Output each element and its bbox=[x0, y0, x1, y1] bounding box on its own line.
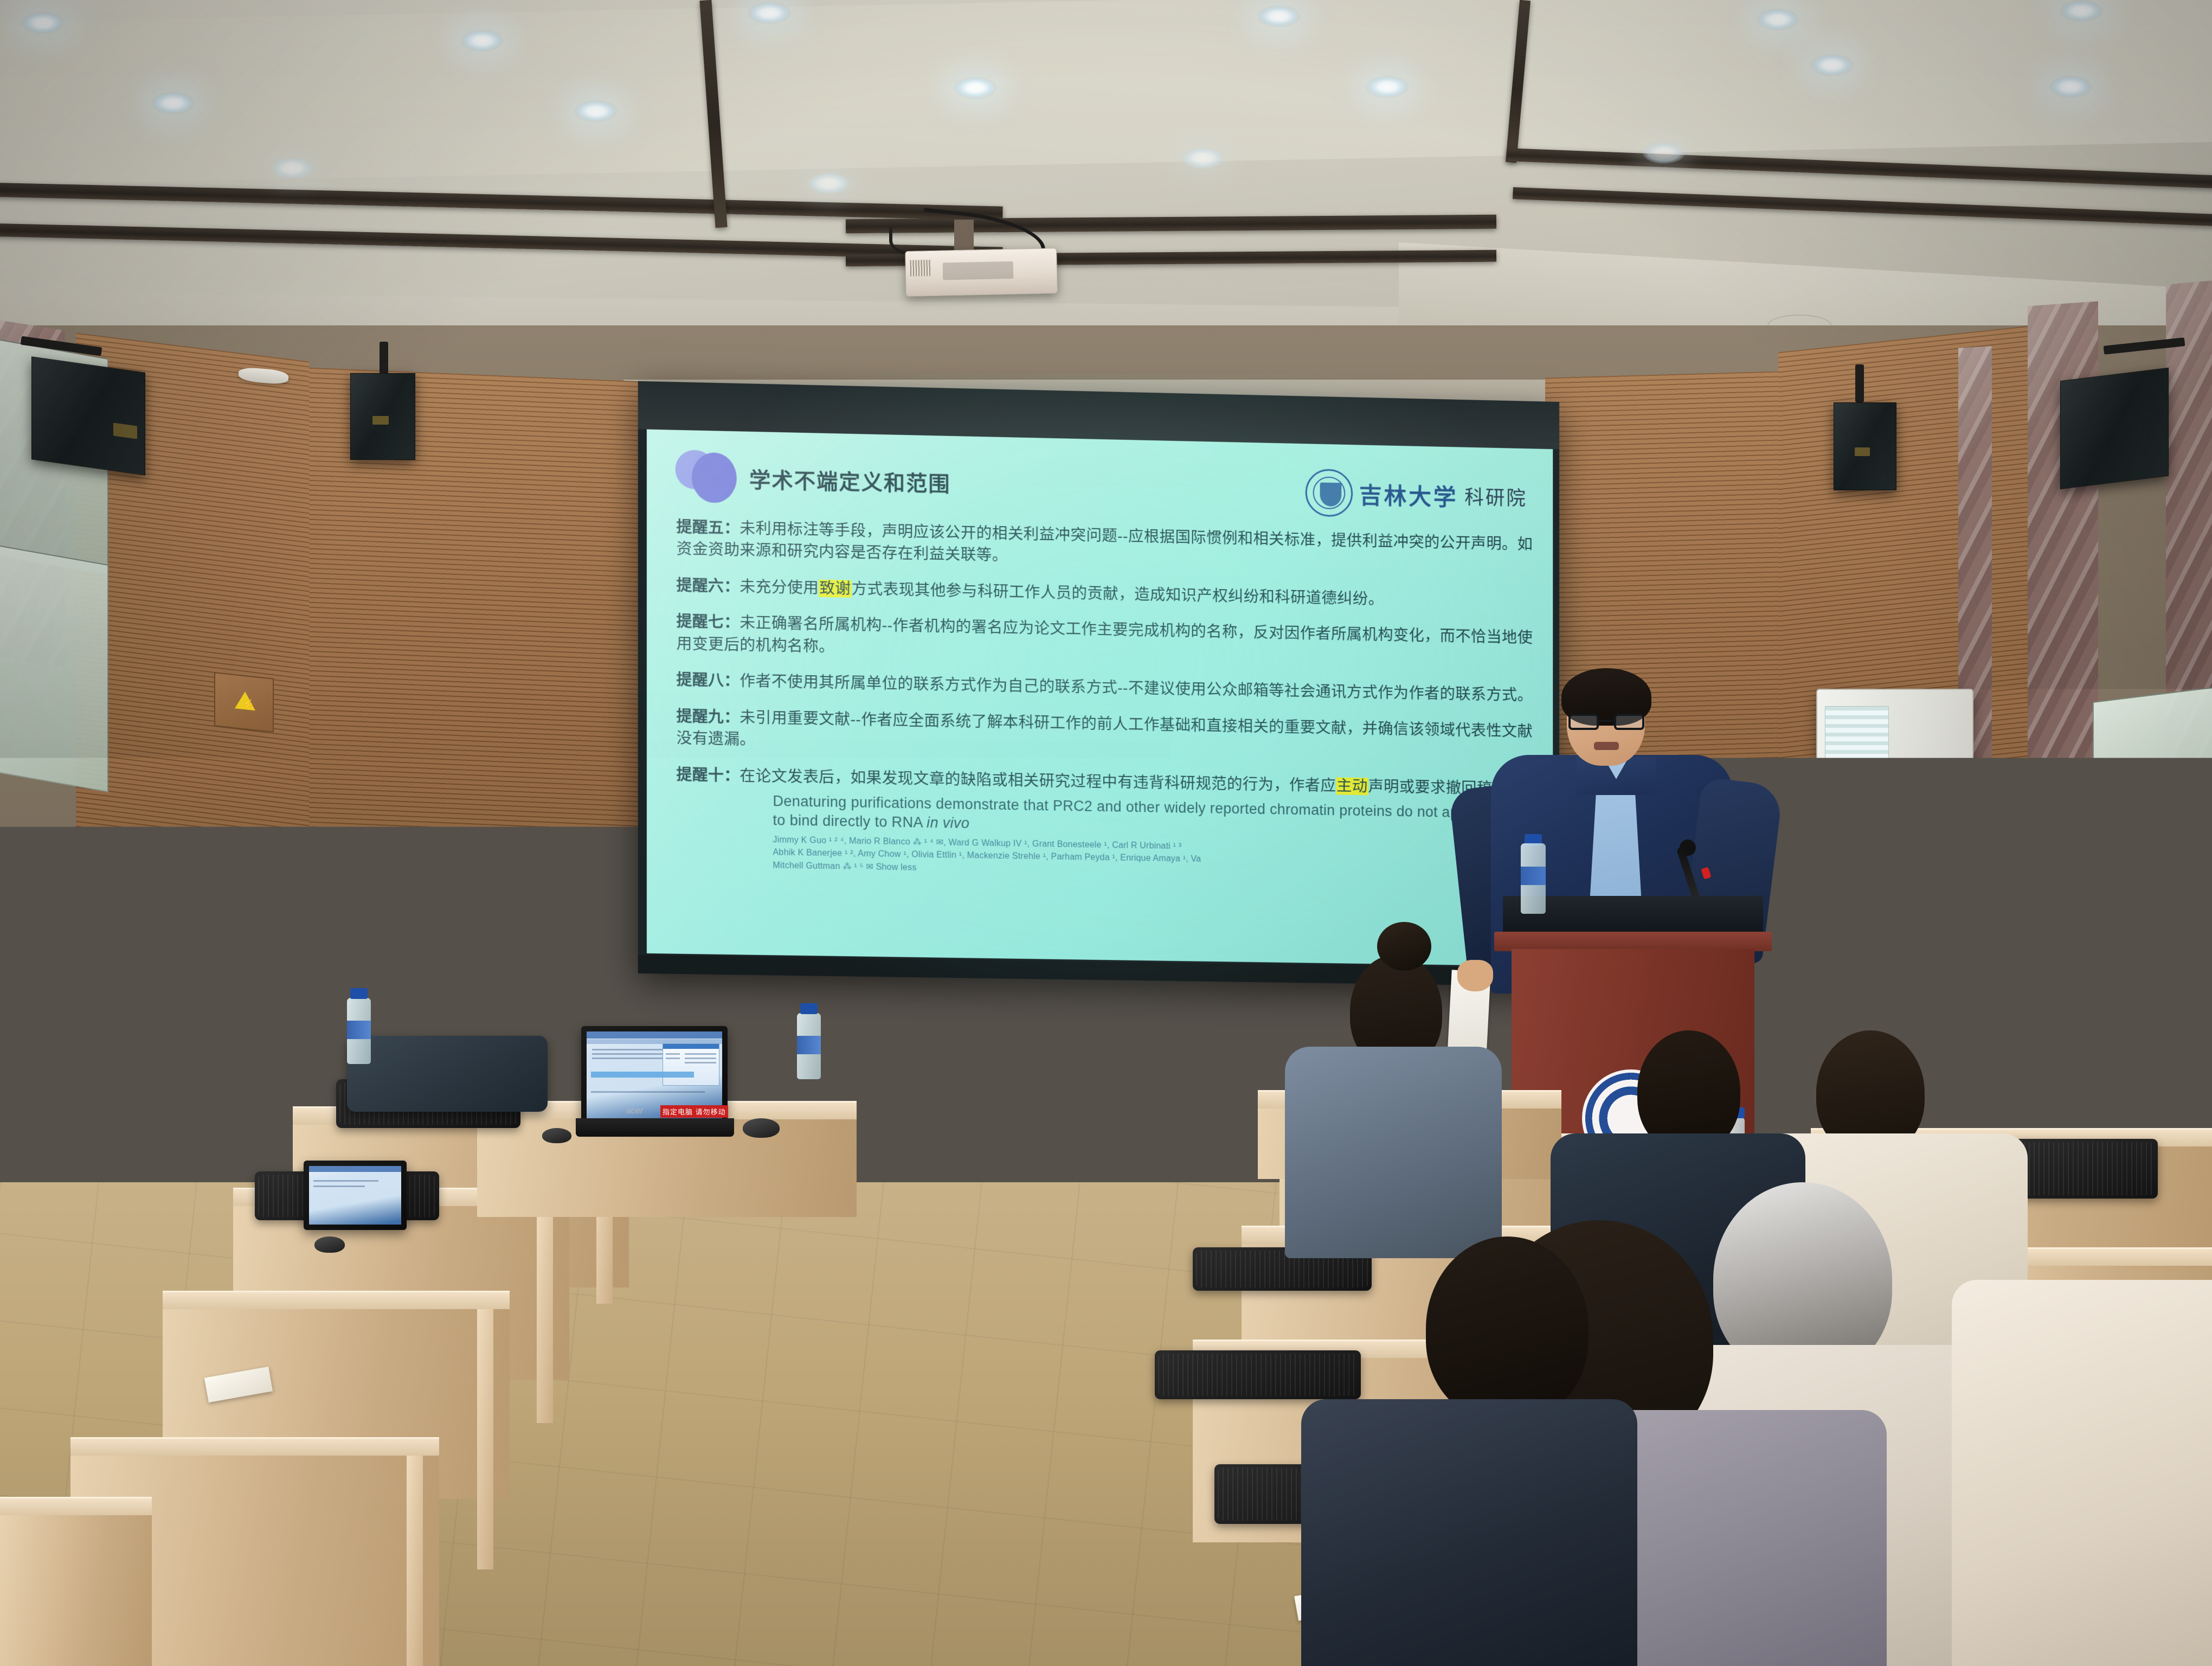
paragraph-lead: 提醒七： bbox=[677, 613, 740, 631]
dialog-text-line bbox=[685, 1053, 716, 1055]
ceiling-panel bbox=[0, 0, 2212, 187]
desk-leg bbox=[537, 1206, 553, 1423]
speaker-badge bbox=[372, 416, 389, 425]
rack-display-small bbox=[1863, 1018, 1876, 1029]
laptop-text-line bbox=[591, 1091, 705, 1093]
chair[interactable] bbox=[1155, 1350, 1361, 1399]
level-led bbox=[1932, 1021, 1938, 1027]
high-voltage-icon: ⚡ bbox=[242, 699, 254, 710]
glass-wall-panel bbox=[0, 542, 108, 792]
laptop-text-line bbox=[222, 1181, 293, 1183]
level-led bbox=[1912, 1021, 1918, 1027]
slide-header: 学术不端定义和范围 吉林大学 科研院 bbox=[676, 443, 1532, 526]
research-office-name: 科研院 bbox=[1464, 482, 1527, 511]
seal-emblem-icon bbox=[1320, 483, 1342, 507]
ceiling-projector bbox=[905, 248, 1058, 297]
desk-leg bbox=[407, 1456, 423, 1666]
projection-screen: 学术不端定义和范围 吉林大学 科研院 提醒五：未利用标注等手段，声明应该公开的相… bbox=[638, 381, 1559, 986]
ac-grille bbox=[1825, 706, 1889, 885]
dialog-titlebar bbox=[663, 1044, 719, 1049]
ceiling-downlight bbox=[1182, 148, 1224, 169]
ceiling-downlight bbox=[2049, 76, 2092, 98]
level-led bbox=[1971, 1021, 1977, 1027]
ceiling-downlight bbox=[1366, 76, 1409, 98]
audience-torso bbox=[1952, 1280, 2212, 1666]
ac-label bbox=[1828, 957, 1875, 971]
rack-blue-panel bbox=[1883, 1019, 1892, 1029]
paragraph-text-after: 方式表现其他参与科研工作人员的贡献，造成知识产权纠纷和科研道德纠纷。 bbox=[851, 580, 1384, 608]
paragraph-lead: 提醒五： bbox=[677, 518, 740, 537]
glasses-lens-right bbox=[1614, 714, 1644, 730]
laptop-screen[interactable] bbox=[218, 1166, 316, 1228]
ceiling-downlight bbox=[808, 172, 850, 194]
ceiling-downlight bbox=[1643, 142, 1685, 164]
paragraph-text: 未正确署名所属机构--作者机构的署名应为论文工作主要完成机构的名称，反对因作者所… bbox=[677, 614, 1533, 656]
ceiling-speaker-left bbox=[350, 373, 415, 460]
ceiling-downlight bbox=[22, 12, 64, 34]
chair-backrest-mesh bbox=[2009, 1142, 2155, 1195]
laptop-titlebar bbox=[587, 1031, 722, 1039]
level-led bbox=[1941, 1021, 1947, 1027]
computer-mouse[interactable] bbox=[743, 1118, 780, 1138]
ceiling-downlight bbox=[1258, 5, 1300, 27]
ceiling-downlight bbox=[748, 2, 790, 24]
university-name: 吉林大学 bbox=[1359, 477, 1458, 512]
rack-top-device bbox=[1876, 960, 1973, 992]
audience-torso bbox=[125, 922, 385, 1106]
ceiling-downlight bbox=[1811, 54, 1853, 76]
podium-bottle-label bbox=[1521, 867, 1546, 885]
dialog-text-line bbox=[685, 1062, 716, 1063]
glasses-icon bbox=[1568, 714, 1644, 730]
laptop-text-line bbox=[222, 1187, 276, 1188]
bottle-cap bbox=[800, 1003, 818, 1014]
level-meter-leds bbox=[1912, 1021, 1996, 1027]
paragraph-highlight: 致谢 bbox=[819, 580, 851, 598]
slide-body: 提醒五：未利用标注等手段，声明应该公开的相关利益冲突问题--应根据国际惯例和相关… bbox=[677, 516, 1537, 815]
university-logo: 吉林大学 科研院 bbox=[1306, 469, 1527, 521]
level-led bbox=[1922, 1021, 1928, 1027]
laptop-base bbox=[576, 1118, 734, 1137]
electrical-box: ⚡ bbox=[214, 672, 274, 733]
dialog-text-line bbox=[685, 1058, 716, 1059]
paragraph-highlight: 主动 bbox=[1336, 777, 1368, 795]
rack-knob[interactable] bbox=[1958, 1075, 1967, 1084]
power-led-blue bbox=[1899, 1018, 1905, 1030]
rack-fader-bank[interactable] bbox=[1990, 1071, 2033, 1087]
chair-backrest-mesh bbox=[1158, 1354, 1358, 1396]
marble-column bbox=[2166, 279, 2212, 1044]
dialog-text-line bbox=[666, 1053, 680, 1055]
desk-leg bbox=[477, 1309, 493, 1569]
presentation-slide: 学术不端定义和范围 吉林大学 科研院 提醒五：未利用标注等手段，声明应该公开的相… bbox=[647, 430, 1553, 966]
projector-ports bbox=[943, 261, 1014, 280]
rack-knob[interactable] bbox=[1974, 1075, 1983, 1084]
paragraph-lead: 提醒十： bbox=[677, 766, 740, 784]
audience-torso bbox=[1285, 1047, 1502, 1258]
rack-fader[interactable] bbox=[2012, 1071, 2017, 1087]
rack-fader[interactable] bbox=[2005, 1071, 2010, 1087]
decorative-circles-icon bbox=[676, 447, 733, 506]
presenter-hand bbox=[1457, 960, 1493, 991]
slide-paragraph-9: 提醒九：未引用重要文献--作者应全面系统了解本科研工作的前人工作基础和直接相关的… bbox=[677, 706, 1537, 765]
ceiling-downlight bbox=[954, 77, 996, 99]
slide-paragraph-7: 提醒七：未正确署名所属机构--作者机构的署名应为论文工作主要完成机构的名称，反对… bbox=[677, 611, 1537, 671]
computer-mouse[interactable] bbox=[542, 1128, 571, 1143]
water-bottle[interactable] bbox=[797, 1013, 821, 1079]
glasses-lens-left bbox=[1568, 714, 1599, 730]
level-led bbox=[1951, 1021, 1957, 1027]
ceiling-downlight bbox=[2060, 0, 2102, 22]
wall-speaker-left bbox=[31, 356, 145, 476]
circle-dark-icon bbox=[692, 452, 737, 503]
audience-torso bbox=[0, 1475, 260, 1666]
speaker-mount-arm bbox=[380, 342, 388, 375]
laptop-audience[interactable] bbox=[213, 1161, 321, 1234]
ceiling-downlight bbox=[575, 100, 617, 122]
laptop-dialog-window[interactable] bbox=[663, 1043, 719, 1086]
rack-fader[interactable] bbox=[2020, 1071, 2025, 1087]
paragraph-lead: 提醒八： bbox=[677, 671, 740, 690]
audience-hair bbox=[1426, 1236, 1589, 1421]
rack-top-unit[interactable]: 219 bbox=[1863, 1015, 2035, 1033]
paragraph-text: 未利用标注等手段，声明应该公开的相关利益冲突问题--应根据国际惯例和相关标准，提… bbox=[677, 520, 1533, 565]
speaker-badge bbox=[113, 422, 137, 439]
lecture-hall-photo: ⚡ 学术不端定义和范围 bbox=[0, 0, 2212, 1666]
level-led bbox=[1961, 1021, 1967, 1027]
paragraph-text: 未引用重要文献--作者应全面系统了解本科研工作的前人工作基础和直接相关的重要文献… bbox=[677, 709, 1533, 748]
audience-hair-bun bbox=[1377, 922, 1431, 971]
projector-vent bbox=[910, 260, 931, 277]
laptop-lid bbox=[213, 1161, 321, 1234]
level-led bbox=[1980, 1021, 1986, 1027]
ceiling-downlight bbox=[152, 92, 194, 114]
paragraph-text: 作者不使用其所属单位的联系方式作为自己的联系方式--不建议使用公众邮箱等社会通讯… bbox=[740, 672, 1533, 704]
bottle-label bbox=[797, 1036, 821, 1054]
level-led bbox=[1990, 1021, 1996, 1027]
university-seal-icon bbox=[1306, 469, 1353, 517]
dialog-text-line bbox=[666, 1058, 680, 1059]
speaker-badge bbox=[1855, 447, 1870, 456]
rack-panel-blank bbox=[1938, 1042, 2035, 1054]
audience-torso bbox=[1301, 1399, 1637, 1666]
rack-fader[interactable] bbox=[1990, 1071, 1995, 1087]
glasses-bridge bbox=[1599, 720, 1614, 722]
rack-knob-large[interactable] bbox=[1924, 1073, 1936, 1085]
ceiling-downlight bbox=[271, 157, 313, 179]
laptop-titlebar bbox=[218, 1166, 316, 1172]
paper-citation-block: Denaturing purifications demonstrate tha… bbox=[773, 792, 1488, 883]
laptop-selected-row bbox=[591, 1072, 694, 1078]
paragraph-lead: 提醒九： bbox=[677, 708, 740, 726]
laptop-asset-sticker: 指定电脑 请勿移动 bbox=[660, 1105, 728, 1118]
wall-speaker-right bbox=[2060, 368, 2169, 490]
ceiling-downlight bbox=[1757, 9, 1799, 30]
paragraph-lead: 提醒六： bbox=[677, 576, 740, 595]
slide-paragraph-6: 提醒六：未充分使用致谢方式表现其他参与科研工作人员的贡献，造成知识产权纠纷和科研… bbox=[677, 574, 1537, 613]
ceiling-speaker-right bbox=[1834, 402, 1896, 490]
laptop-text-line bbox=[592, 1053, 673, 1055]
slide-paragraph-8: 提醒八：作者不使用其所属单位的联系方式作为自己的联系方式--不建议使用公众邮箱等… bbox=[677, 669, 1537, 707]
presenter-mouth bbox=[1594, 742, 1619, 750]
podium-lip bbox=[1494, 932, 1772, 951]
rack-knob[interactable] bbox=[1943, 1075, 1952, 1084]
paragraph-text-before: 在论文发表后，如果发现文章的缺陷或相关研究过程中有违背科研规范的行为，作者应 bbox=[740, 767, 1336, 794]
air-conditioner-unit bbox=[1816, 689, 1973, 992]
speaker-mount-arm bbox=[1855, 364, 1864, 402]
paragraph-text-before: 未充分使用 bbox=[740, 578, 819, 597]
rack-fader[interactable] bbox=[2028, 1071, 2033, 1087]
slide-title: 学术不端定义和范围 bbox=[749, 463, 951, 498]
paper-title-italic: in vivo bbox=[927, 815, 969, 831]
slide-paragraph-5: 提醒五：未利用标注等手段，声明应该公开的相关利益冲突问题--应根据国际惯例和相关… bbox=[677, 516, 1537, 578]
rack-numeric-display: 219 bbox=[2004, 1015, 2035, 1033]
laptop-brand-label: acer bbox=[626, 1106, 643, 1116]
paper-authors: Jimmy K Guo ¹ ² ⁴, Mario R Blanco ⁂ ¹ ⁴ … bbox=[773, 834, 1488, 882]
ceiling-downlight bbox=[461, 30, 503, 52]
glass-wall-panel bbox=[2093, 687, 2212, 897]
chair[interactable] bbox=[2006, 1139, 2158, 1199]
rack-fader[interactable] bbox=[1997, 1071, 2002, 1087]
